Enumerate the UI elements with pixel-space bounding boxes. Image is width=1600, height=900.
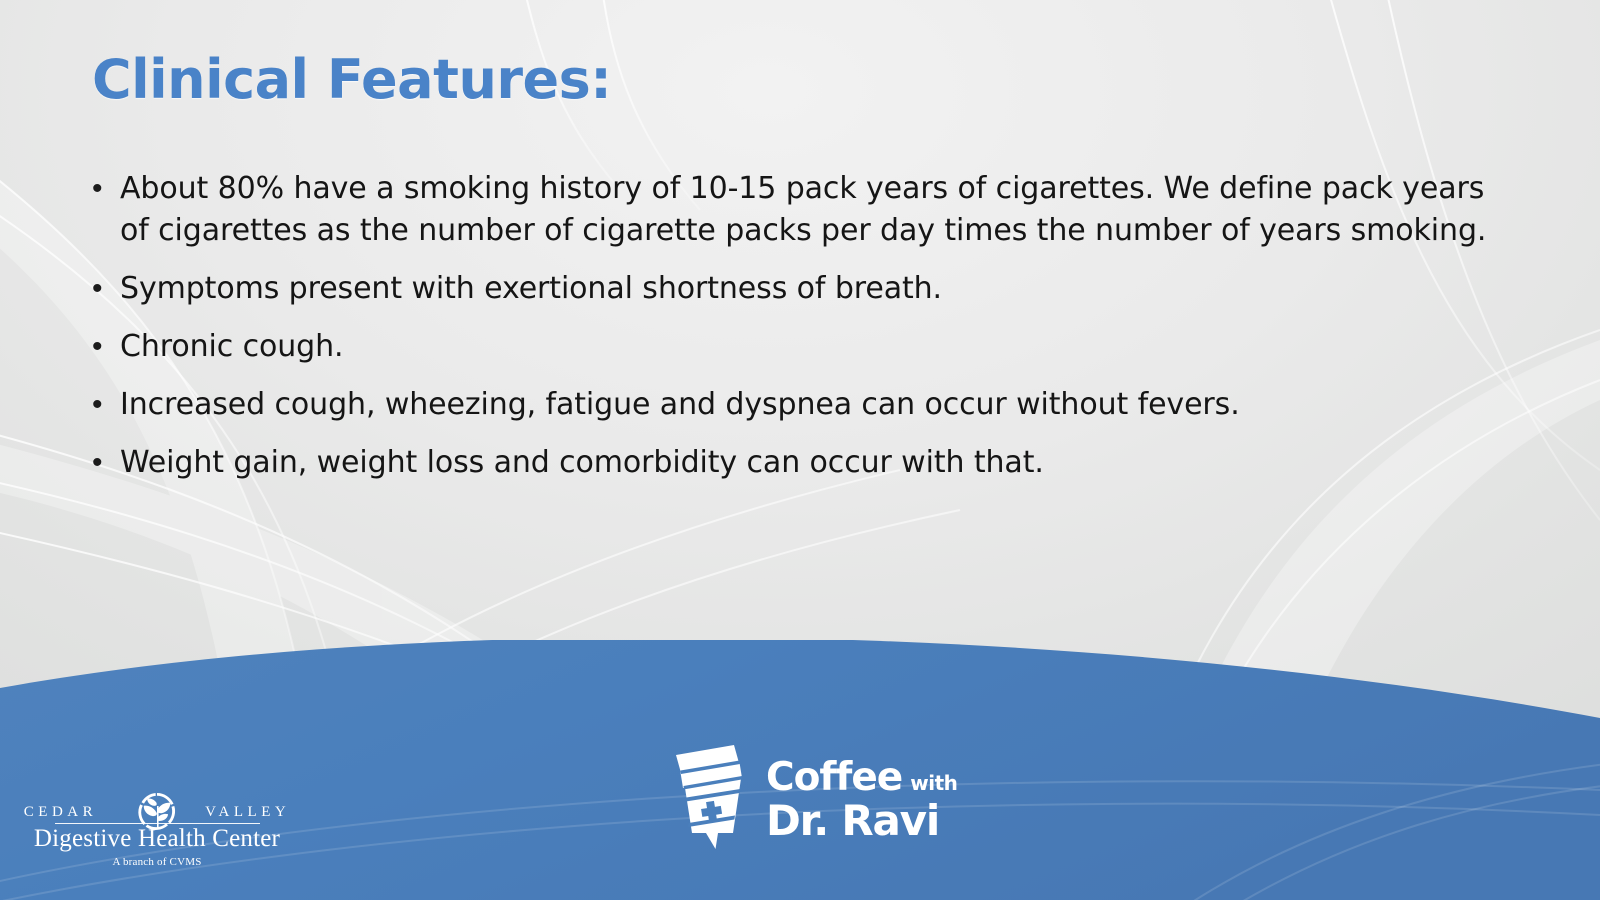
bullet-text: Weight gain, weight loss and comorbidity… (120, 442, 1518, 484)
clinic-tagline: A branch of CVMS (22, 856, 292, 868)
show-wordmark: Coffee with Dr. Ravi (766, 758, 957, 843)
clinic-word-valley: VALLEY (205, 804, 290, 821)
list-item: • Weight gain, weight loss and comorbidi… (88, 442, 1518, 484)
bullet-text: Symptoms present with exertional shortne… (120, 268, 1518, 310)
bullet-point-icon: • (88, 442, 120, 484)
slide-title: Clinical Features: (92, 48, 611, 111)
clinic-name: Digestive Health Center (22, 825, 292, 853)
bullet-point-icon: • (88, 326, 120, 368)
list-item: • About 80% have a smoking history of 10… (88, 168, 1518, 252)
coffee-cup-medical-cross-icon (660, 741, 756, 858)
show-word-with: with (910, 773, 957, 793)
show-host-name: Dr. Ravi (766, 799, 957, 843)
bullet-text: Increased cough, wheezing, fatigue and d… (120, 384, 1518, 426)
presentation-slide: Clinical Features: • About 80% have a sm… (0, 0, 1600, 900)
clinic-logo: CEDAR VALLEY Digestive Health Center A b… (22, 790, 292, 869)
clinic-word-cedar: CEDAR (24, 804, 97, 821)
list-item: • Increased cough, wheezing, fatigue and… (88, 384, 1518, 426)
bullet-point-icon: • (88, 168, 120, 210)
show-logo: Coffee with Dr. Ravi (660, 741, 957, 858)
bullet-text: About 80% have a smoking history of 10-1… (120, 168, 1518, 252)
bullet-list: • About 80% have a smoking history of 10… (88, 168, 1518, 500)
list-item: • Symptoms present with exertional short… (88, 268, 1518, 310)
bullet-point-icon: • (88, 268, 120, 310)
bullet-text: Chronic cough. (120, 326, 1518, 368)
bullet-point-icon: • (88, 384, 120, 426)
show-word-coffee: Coffee (766, 758, 902, 797)
list-item: • Chronic cough. (88, 326, 1518, 368)
